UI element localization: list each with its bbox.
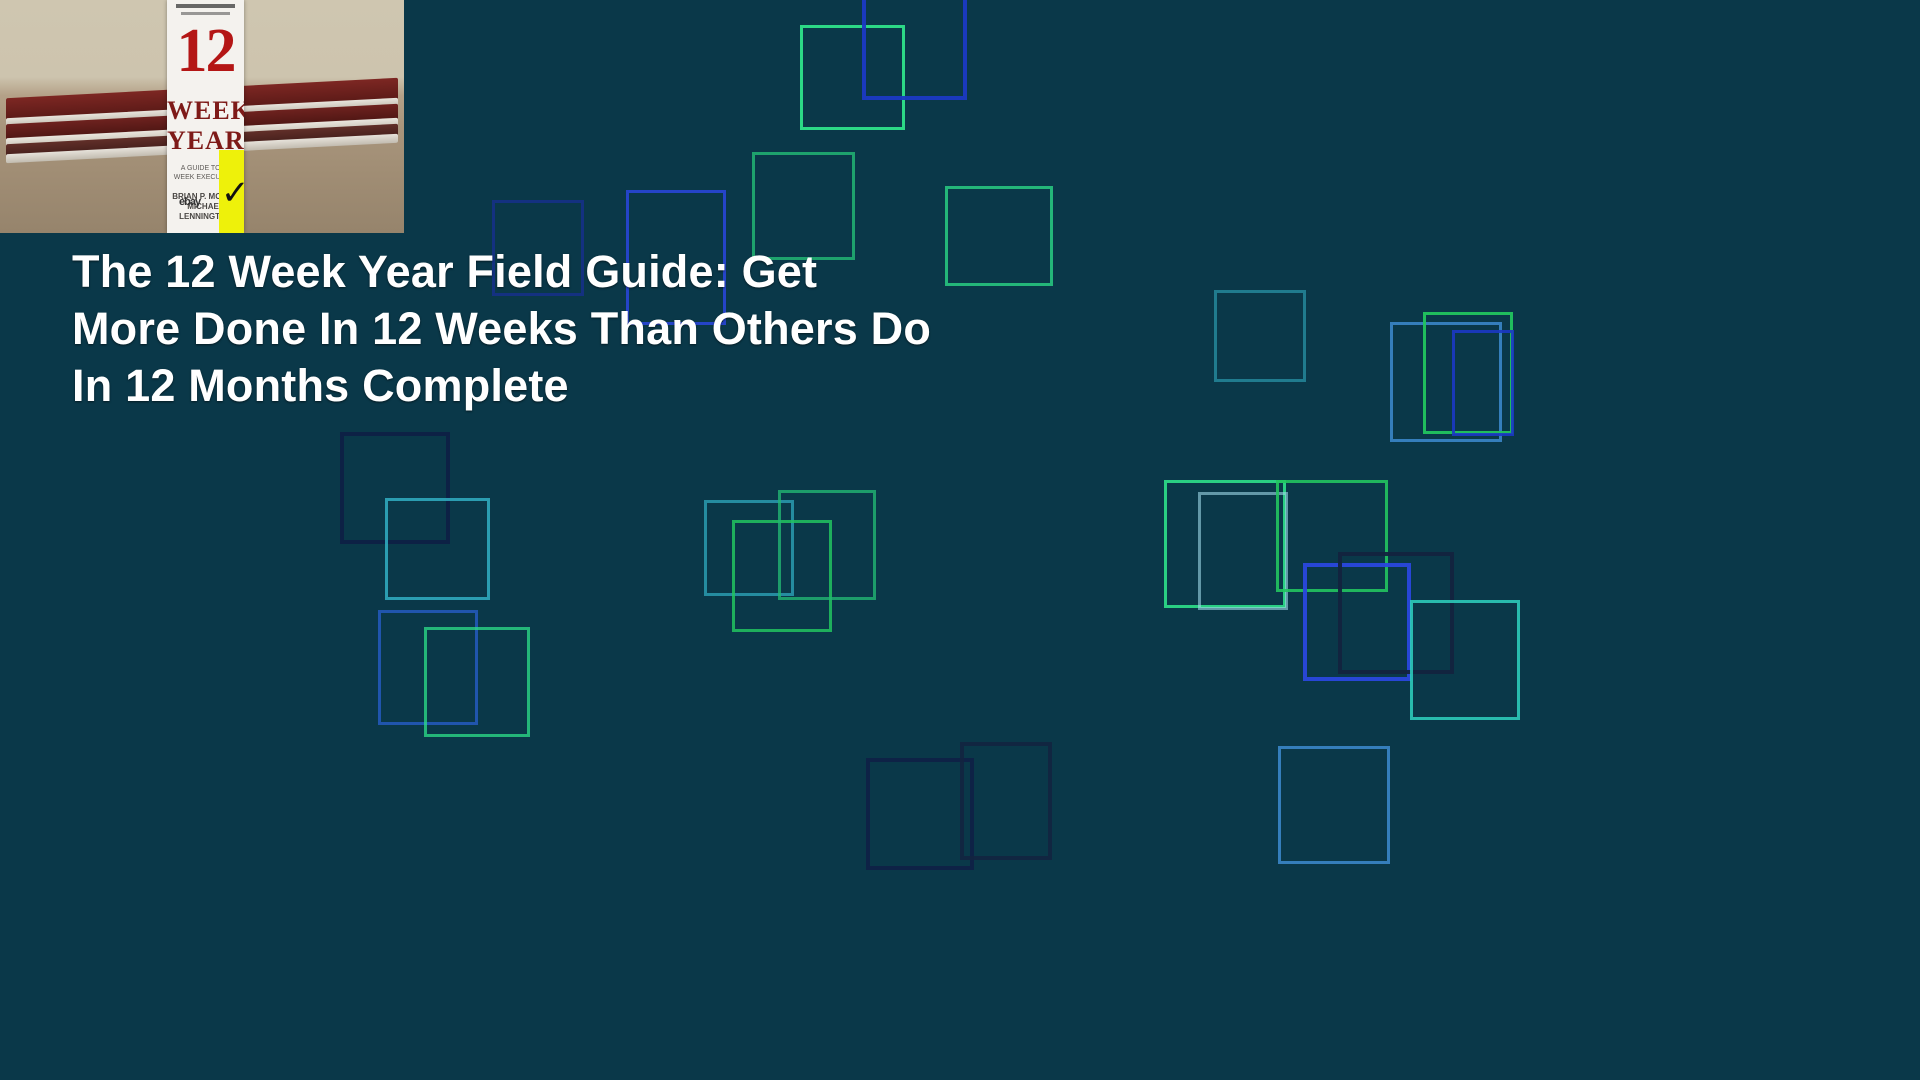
decor-square: [732, 520, 832, 632]
title-line-2: More Done In 12 Weeks Than Others Do: [72, 300, 1192, 357]
decor-square: [800, 25, 905, 130]
spine-word-week: WEEK: [167, 96, 244, 126]
decor-square: [1423, 312, 1513, 434]
decor-square: [1410, 600, 1520, 720]
decor-square: [1198, 492, 1288, 610]
decor-square: [1164, 480, 1286, 608]
book-cover-thumbnail: 12 WEEK YEAR A GUIDE TO 12 WEEK EXECUTIO…: [0, 0, 404, 233]
decor-square: [1214, 290, 1306, 382]
watermark-label: ebay: [179, 196, 200, 208]
listing-image: 12 WEEK YEAR A GUIDE TO 12 WEEK EXECUTIO…: [0, 0, 1920, 1080]
decor-square: [704, 500, 794, 596]
decor-square: [1452, 330, 1514, 436]
decor-square: [1278, 746, 1390, 864]
decor-square: [778, 490, 876, 600]
decor-square: [866, 758, 974, 870]
decor-square: [340, 432, 450, 544]
book-spine: 12 WEEK YEAR A GUIDE TO 12 WEEK EXECUTIO…: [167, 0, 244, 233]
decor-square: [1338, 552, 1454, 674]
decor-square: [1390, 322, 1502, 442]
title-line-1: The 12 Week Year Field Guide: Get: [72, 243, 1192, 300]
decor-square: [1276, 480, 1388, 592]
decor-square: [1303, 563, 1411, 681]
decor-square: [862, 0, 967, 100]
check-mark-icon: ✓: [221, 176, 243, 216]
decor-square: [424, 627, 530, 737]
spine-rule: [181, 12, 230, 15]
decor-square: [960, 742, 1052, 860]
spine-number: 12: [167, 20, 244, 82]
decor-square: [378, 610, 478, 725]
spine-rule: [176, 4, 235, 8]
title-line-3: In 12 Months Complete: [72, 357, 1192, 414]
decor-square: [385, 498, 490, 600]
page-title: The 12 Week Year Field Guide: Get More D…: [72, 243, 1192, 414]
